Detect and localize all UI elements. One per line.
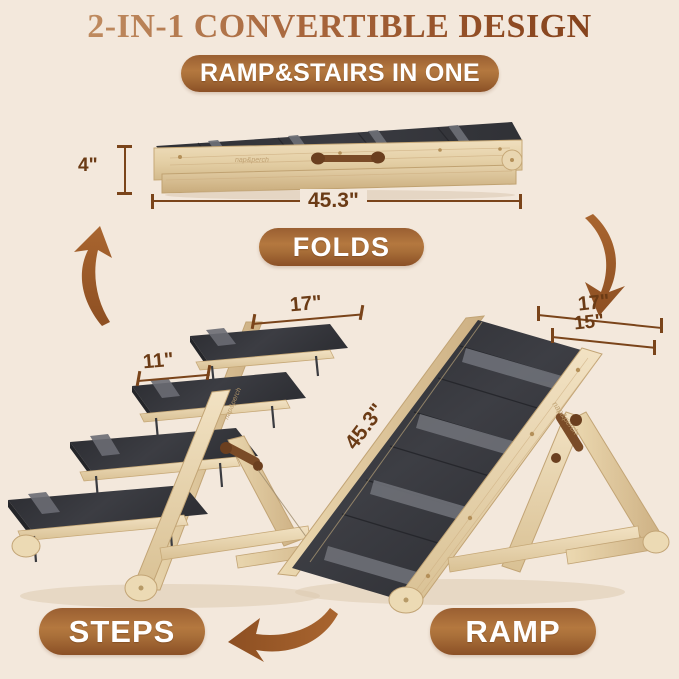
subtitle-badge: RAMP&STAIRS IN ONE [181,55,499,92]
folds-badge: FOLDS [259,228,424,266]
infographic-canvas: 2-IN-1 CONVERTIBLE DESIGN RAMP&STAIRS IN… [0,0,679,679]
dimension-line [124,146,126,194]
page-title: 2-IN-1 CONVERTIBLE DESIGN [0,8,679,46]
ramp-badge: RAMP [430,608,596,655]
dimension-cap [519,194,522,209]
dimension-cap [537,306,540,321]
dimension-cap [151,194,154,209]
dimension-label-4in: 4" [78,155,98,177]
dimension-label-11in: 11" [142,349,175,375]
svg-text:nap&perch: nap&perch [235,157,269,164]
dimension-label-15in: 15" [573,310,605,335]
dimension-cap [117,192,132,195]
ramp-product-illustration: nap&perch [270,300,670,620]
dimension-cap [117,145,132,148]
dimension-cap [551,328,554,343]
dimension-cap [653,340,656,355]
dimension-cap [660,318,663,333]
folded-product-illustration: nap&perch [140,100,540,200]
dimension-label-453in-folded: 45.3" [300,189,367,213]
steps-badge: STEPS [39,608,205,655]
curved-arrow-left-icon [226,600,342,662]
